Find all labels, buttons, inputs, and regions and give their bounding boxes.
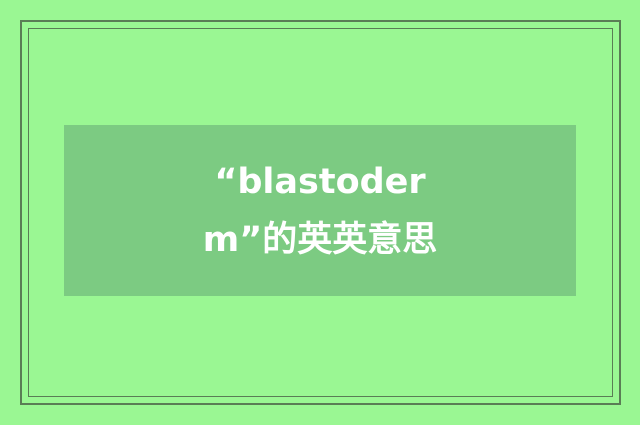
caption-title-text: “blastoderm”的英英意思 [170, 153, 470, 269]
image-canvas: “blastoderm”的英英意思 [0, 0, 640, 425]
caption-plate: “blastoderm”的英英意思 [64, 125, 576, 296]
